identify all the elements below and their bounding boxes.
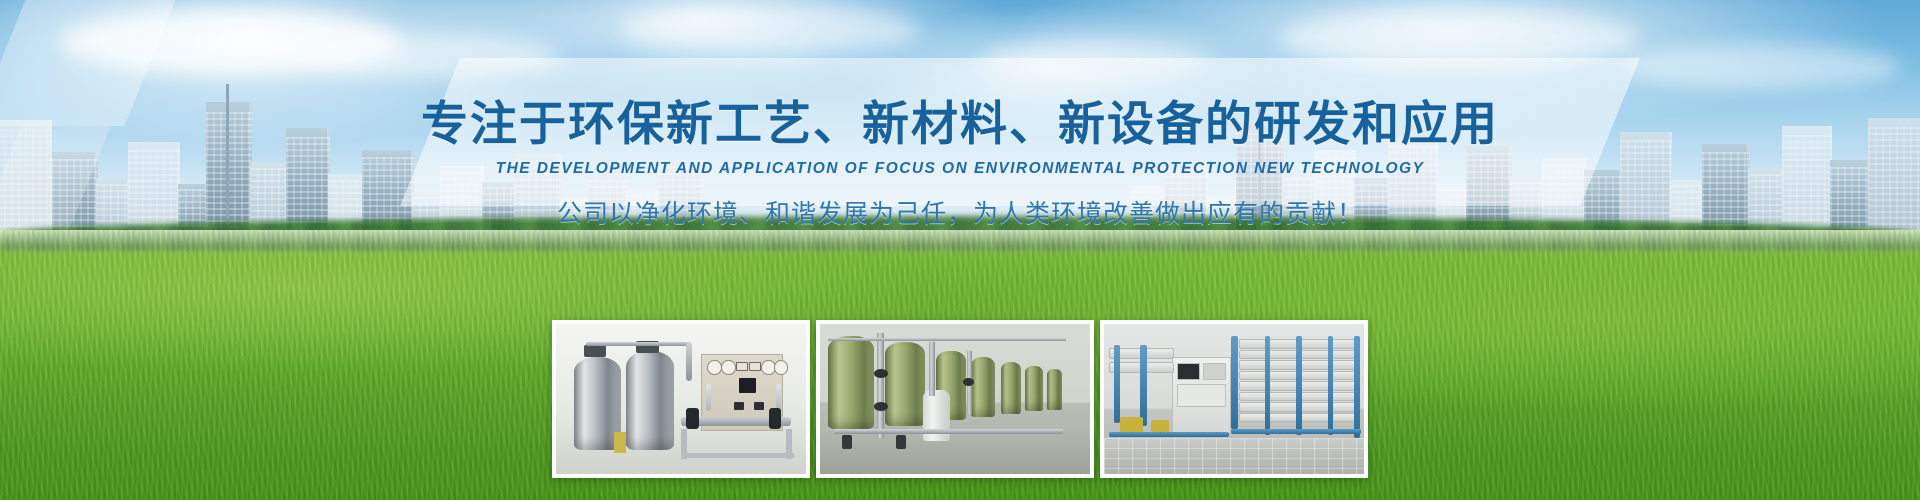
photo-stainless-water-treatment-system[interactable] — [552, 320, 810, 478]
horizon-haze — [0, 230, 1920, 256]
product-photo-row — [0, 320, 1920, 478]
banner-headline: 专注于环保新工艺、新材料、新设备的研发和应用 — [0, 96, 1920, 151]
banner-subheadline-english: THE DEVELOPMENT AND APPLICATION OF FOCUS… — [0, 160, 1920, 178]
banner-tagline: 公司以净化环境、和谐发展为己任，为人类环境改善做出应有的贡献！ — [0, 194, 1920, 230]
photo-reverse-osmosis-skid[interactable] — [1100, 320, 1368, 478]
photo-green-frp-filter-tanks[interactable] — [816, 320, 1094, 478]
banner-text-block: 专注于环保新工艺、新材料、新设备的研发和应用 THE DEVELOPMENT A… — [0, 96, 1920, 230]
hero-banner: 专注于环保新工艺、新材料、新设备的研发和应用 THE DEVELOPMENT A… — [0, 0, 1920, 500]
